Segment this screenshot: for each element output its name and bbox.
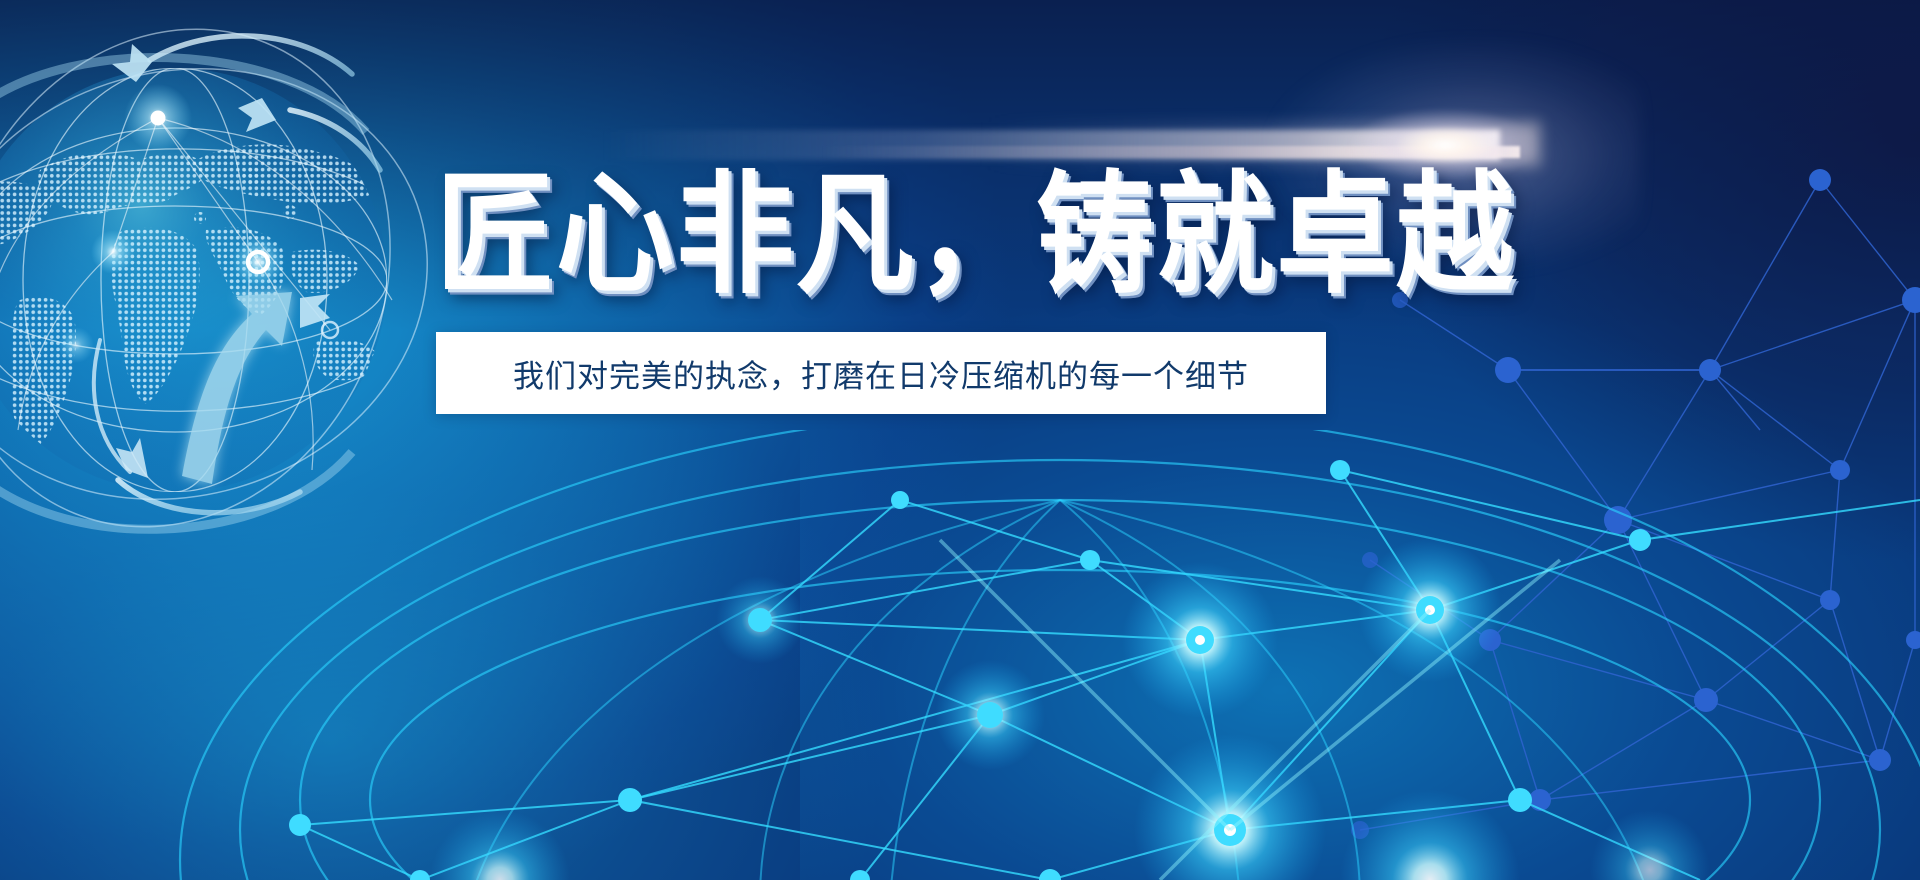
banner-subtitle: 我们对完美的执念，打磨在日冷压缩机的每一个细节	[513, 351, 1249, 396]
network-mesh-bottom	[0, 0, 1920, 880]
hero-banner: 匠心非凡，铸就卓越 我们对完美的执念，打磨在日冷压缩机的每一个细节	[0, 0, 1920, 880]
banner-content: 匠心非凡，铸就卓越 我们对完美的执念，打磨在日冷压缩机的每一个细节	[436, 165, 1636, 414]
banner-headline: 匠心非凡，铸就卓越	[436, 165, 1636, 305]
banner-subtitle-bar: 我们对完美的执念，打磨在日冷压缩机的每一个细节	[436, 332, 1326, 414]
